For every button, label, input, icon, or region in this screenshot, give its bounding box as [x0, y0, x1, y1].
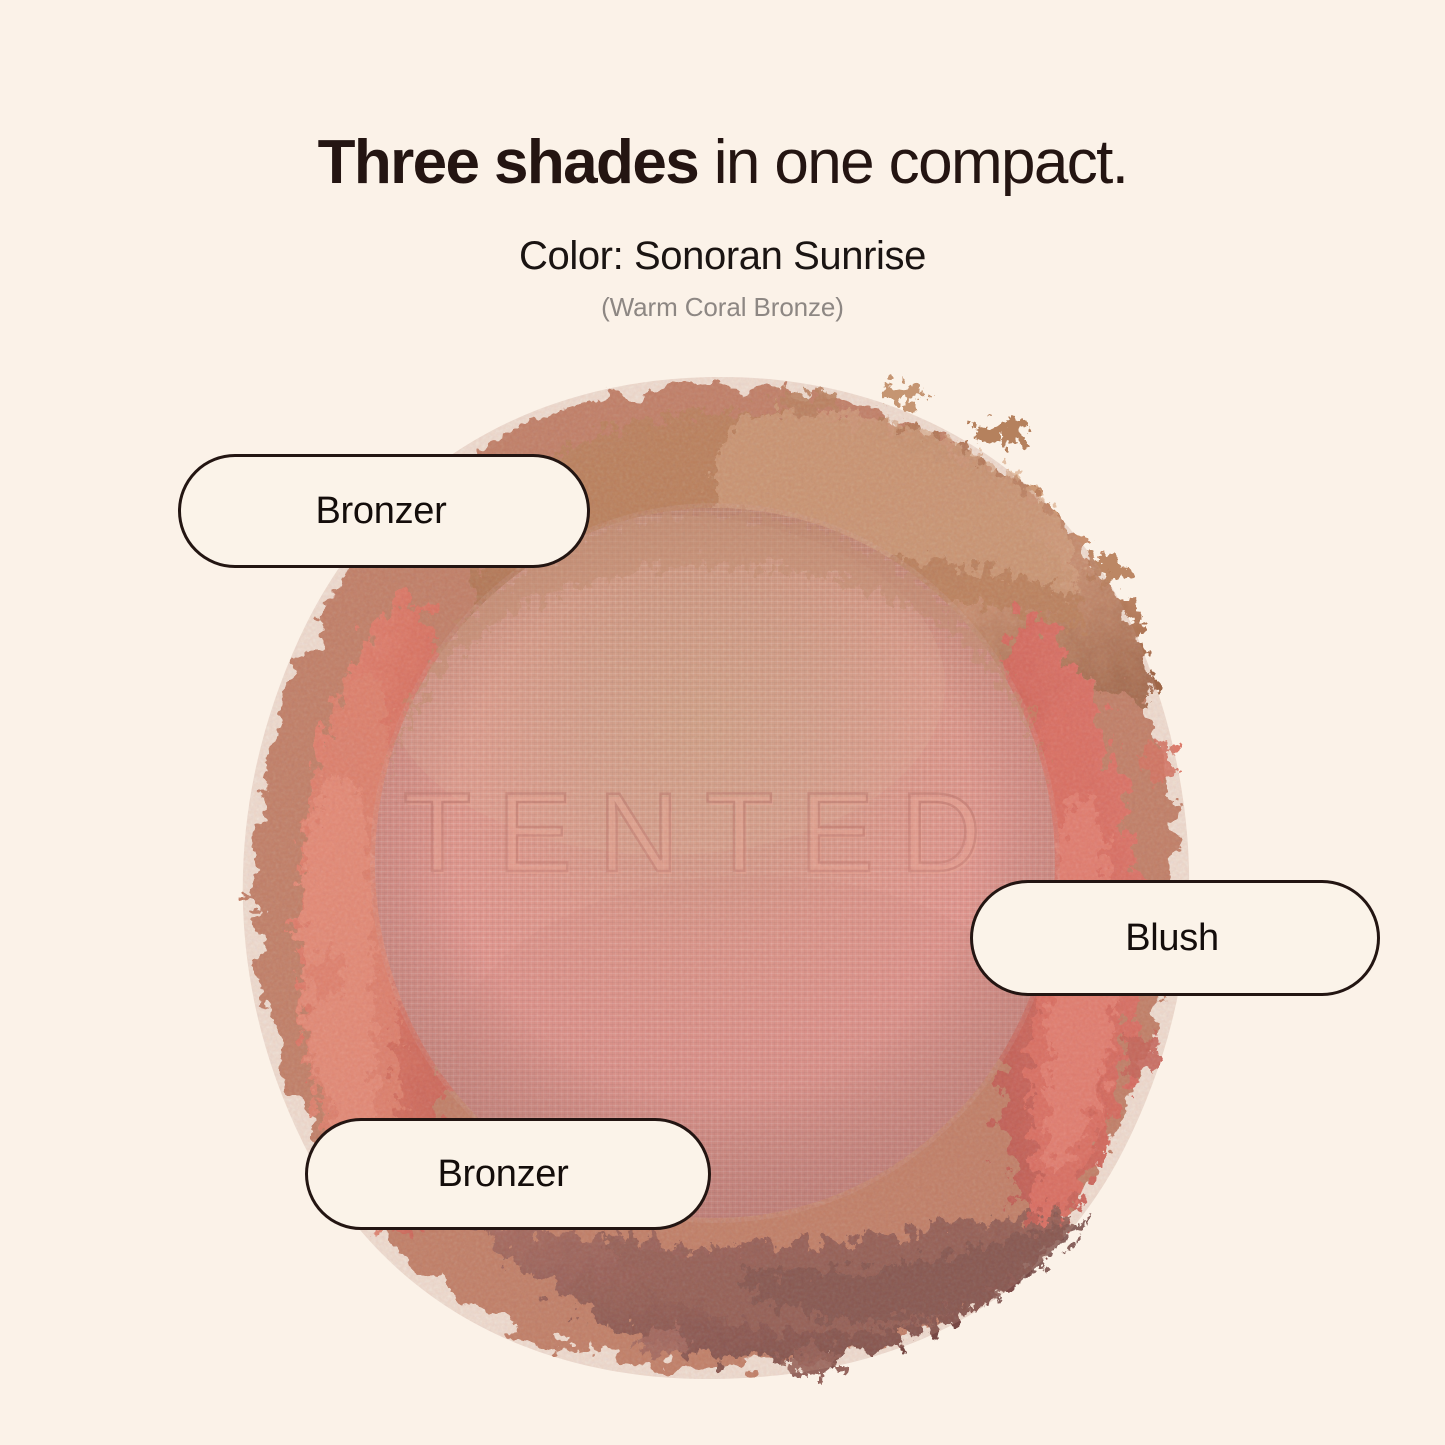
- color-name-label: Color: Sonoran Sunrise: [0, 234, 1445, 279]
- color-description-label: (Warm Coral Bronze): [0, 292, 1445, 323]
- headline-emphasis: Three shades: [318, 128, 699, 197]
- callout-label: Bronzer: [316, 490, 447, 533]
- callout-pill-blush[interactable]: Blush: [970, 880, 1380, 996]
- page-title: Three shades in one compact.: [0, 132, 1445, 194]
- callout-label: Bronzer: [438, 1153, 569, 1196]
- headline-rest: in one compact.: [698, 128, 1127, 197]
- callout-pill-bronzer-top[interactable]: Bronzer: [178, 454, 590, 568]
- callout-pill-bronzer-bottom[interactable]: Bronzer: [305, 1118, 711, 1230]
- callout-label: Blush: [1125, 917, 1219, 960]
- product-infographic: Three shades in one compact. Color: Sono…: [0, 0, 1445, 1445]
